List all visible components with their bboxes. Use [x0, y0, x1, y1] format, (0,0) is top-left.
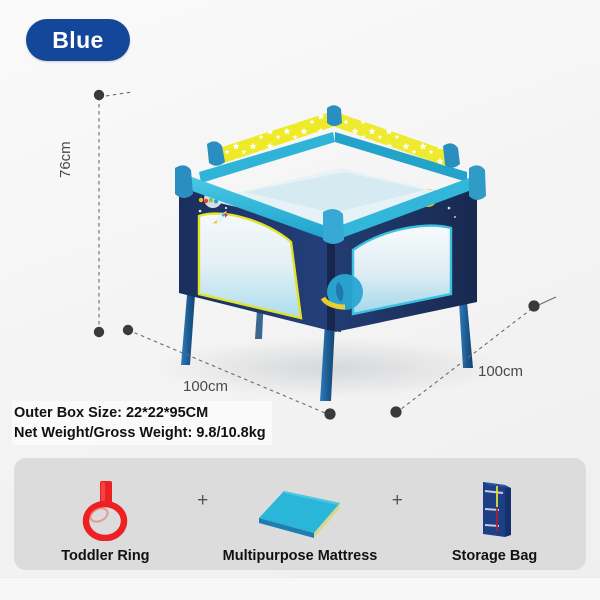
plus-separator-1: + [197, 490, 208, 538]
included-accessories-panel: Toddler Ring + Multipurpose Mattress + [14, 458, 586, 570]
net-gross-weight-line: Net Weight/Gross Weight: 9.8/10.8kg [14, 423, 266, 443]
outer-box-size-line: Outer Box Size: 22*22*95CM [14, 403, 266, 423]
specification-text: Outer Box Size: 22*22*95CM Net Weight/Gr… [12, 401, 272, 445]
accessory-multipurpose-mattress[interactable]: Multipurpose Mattress [225, 464, 375, 564]
accessory-label: Storage Bag [452, 548, 537, 564]
storage-bag-icon [473, 479, 517, 541]
mattress-icon [254, 479, 346, 541]
product-image-canvas: 76cm 100cm 100cm Blue Outer Box Size: 22… [0, 0, 600, 600]
accessory-storage-bag[interactable]: Storage Bag [420, 464, 570, 564]
bottom-bar [0, 578, 600, 600]
playpen-illustration [95, 80, 555, 425]
plus-separator-2: + [392, 490, 403, 538]
toddler-ring-icon [76, 479, 134, 541]
color-variant-label: Blue [52, 27, 103, 54]
color-variant-badge[interactable]: Blue [26, 19, 130, 61]
dimension-height-label: 76cm [57, 141, 74, 178]
accessory-label: Toddler Ring [61, 548, 149, 564]
accessory-label: Multipurpose Mattress [223, 548, 378, 564]
accessory-toddler-ring[interactable]: Toddler Ring [30, 464, 180, 564]
